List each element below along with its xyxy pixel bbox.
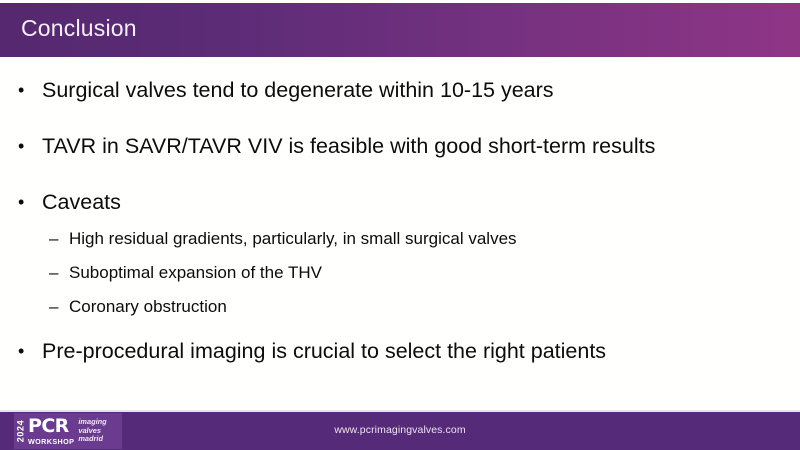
bullet-item: • Caveats <box>18 189 121 215</box>
bullet-marker-icon: • <box>18 133 42 159</box>
logo-subtitle-label: WORKSHOP <box>28 437 74 446</box>
bullet-marker-icon: • <box>18 77 42 103</box>
presentation-slide: Conclusion • Surgical valves tend to deg… <box>0 0 800 450</box>
bullet-marker-icon: • <box>18 338 42 364</box>
dash-marker-icon: – <box>49 228 69 250</box>
bullet-marker-icon: • <box>18 189 42 215</box>
dash-marker-icon: – <box>49 296 69 318</box>
bullet-item: • TAVR in SAVR/TAVR VIV is feasible with… <box>18 133 655 159</box>
sub-bullet-item: – Coronary obstruction <box>49 296 227 318</box>
sub-bullet-text: High residual gradients, particularly, i… <box>69 228 517 250</box>
page-title: Conclusion <box>21 15 137 42</box>
bullet-text: Pre-procedural imaging is crucial to sel… <box>42 338 606 364</box>
sub-bullet-item: – Suboptimal expansion of the THV <box>49 262 322 284</box>
sub-bullet-text: Suboptimal expansion of the THV <box>69 262 322 284</box>
dash-marker-icon: – <box>49 262 69 284</box>
bullet-item: • Pre-procedural imaging is crucial to s… <box>18 338 606 364</box>
bullet-text: Surgical valves tend to degenerate withi… <box>42 77 554 103</box>
sub-bullet-text: Coronary obstruction <box>69 296 227 318</box>
bullet-item: • Surgical valves tend to degenerate wit… <box>18 77 554 103</box>
footer-url[interactable]: www.pcrimagingvalves.com <box>0 424 800 437</box>
bullet-text: Caveats <box>42 189 121 215</box>
slide-body: • Surgical valves tend to degenerate wit… <box>0 57 800 412</box>
sub-bullet-item: – High residual gradients, particularly,… <box>49 228 517 250</box>
bullet-text: TAVR in SAVR/TAVR VIV is feasible with g… <box>42 133 655 159</box>
